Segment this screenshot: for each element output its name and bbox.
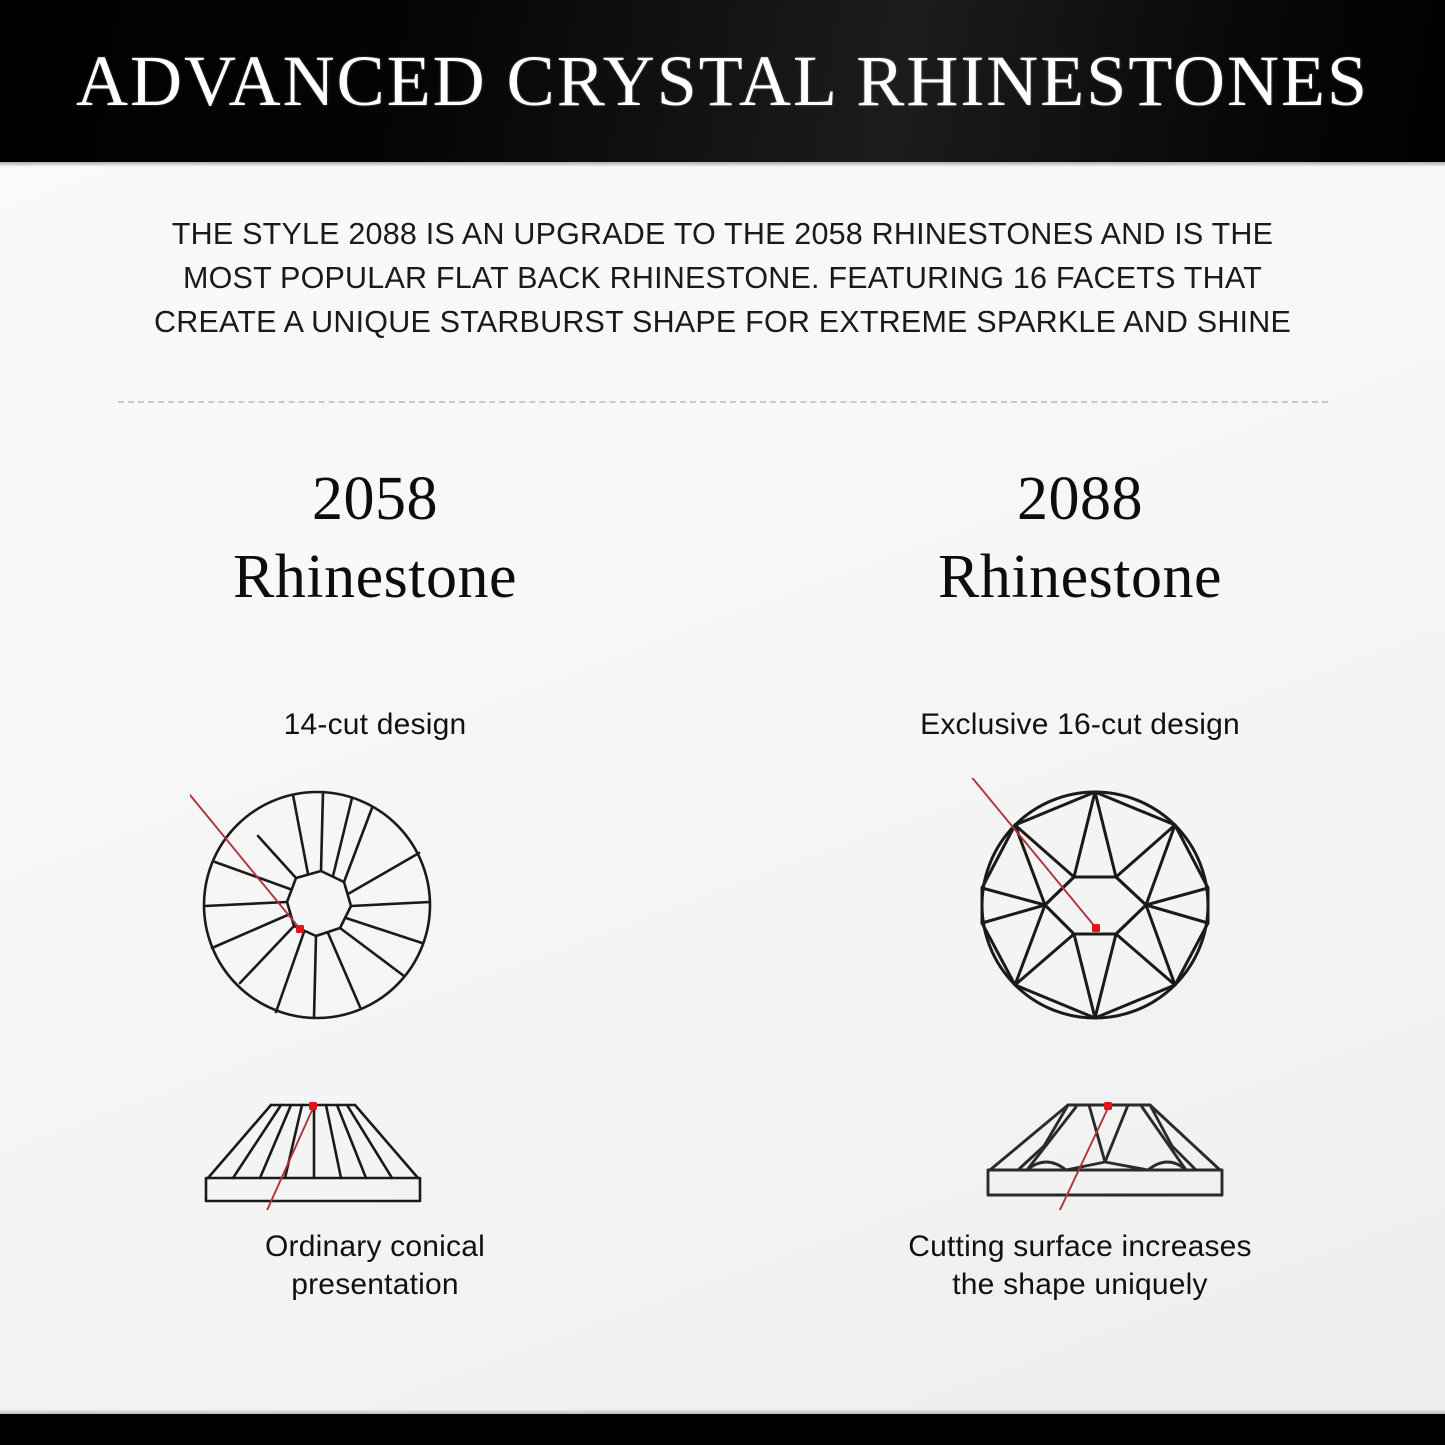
description-line-2: MOST POPULAR FLAT BACK RHINESTONE. FEATU…	[95, 256, 1350, 300]
page-title: ADVANCED CRYSTAL RHINESTONES	[0, 45, 1445, 117]
caption-2058-line-2: presentation	[55, 1266, 695, 1304]
caption-2058-line-1: Ordinary conical	[55, 1228, 695, 1266]
description-line-1: THE STYLE 2088 IS AN UPGRADE TO THE 2058…	[95, 212, 1350, 256]
crystal-top-view-2058	[190, 778, 444, 1037]
column-title-2058: 2058 Rhinestone	[55, 460, 695, 616]
cut-label-2058: 14-cut design	[55, 708, 695, 742]
cut-label-2088: Exclusive 16-cut design	[760, 708, 1400, 742]
column-title-word-2058: Rhinestone	[55, 538, 695, 616]
description-line-3: CREATE A UNIQUE STARBURST SHAPE FOR EXTR…	[95, 300, 1350, 344]
header-drop-shadow	[0, 162, 1445, 167]
crystal-top-view-2088	[968, 778, 1222, 1037]
caption-2088-line-2: the shape uniquely	[760, 1266, 1400, 1304]
crystal-side-view-2088	[958, 1078, 1240, 1215]
description-paragraph: THE STYLE 2088 IS AN UPGRADE TO THE 2058…	[95, 212, 1350, 344]
column-title-word-2088: Rhinestone	[760, 538, 1400, 616]
infographic-page: ADVANCED CRYSTAL RHINESTONES THE STYLE 2…	[0, 0, 1445, 1445]
column-title-2088: 2088 Rhinestone	[760, 460, 1400, 616]
column-2088: 2088 Rhinestone	[760, 460, 1400, 616]
column-title-number-2088: 2088	[760, 460, 1400, 538]
column-2058: 2058 Rhinestone	[55, 460, 695, 616]
caption-2088: Cutting surface increases the shape uniq…	[760, 1228, 1400, 1304]
column-title-number-2058: 2058	[55, 460, 695, 538]
caption-2088-line-1: Cutting surface increases	[760, 1228, 1400, 1266]
footer-band	[0, 1414, 1445, 1445]
section-divider	[118, 401, 1328, 403]
header-band: ADVANCED CRYSTAL RHINESTONES	[0, 0, 1445, 162]
caption-2058: Ordinary conical presentation	[55, 1228, 695, 1304]
crystal-side-view-2058	[178, 1078, 450, 1215]
